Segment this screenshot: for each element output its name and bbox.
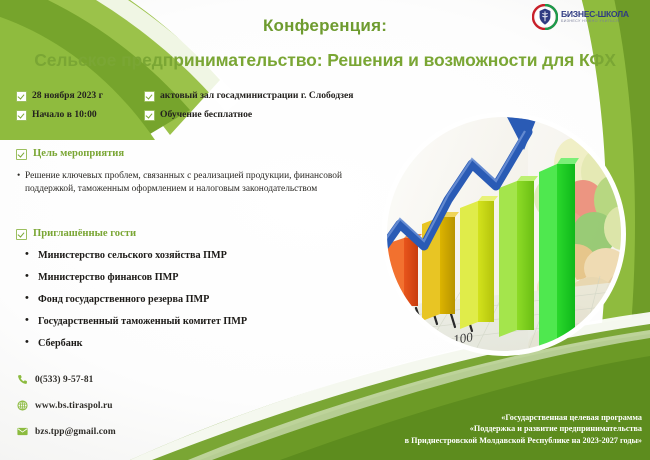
program-note-line: «Поддержка и развитие предпринимательств… <box>405 423 642 435</box>
contact-website-text: www.bs.tiraspol.ru <box>35 401 113 411</box>
chart-bar-4 <box>499 176 538 337</box>
event-detail-date: 28 ноября 2023 г <box>16 90 144 102</box>
envelope-icon <box>16 425 29 438</box>
contacts-block: 0(533) 9-57-81 www.bs.tiraspol.ru bzs.tp… <box>16 373 116 438</box>
event-details-row: 28 ноября 2023 г актовый зал госадминист… <box>16 90 376 102</box>
goal-body: • Решение ключевых проблем, связанных с … <box>16 170 366 195</box>
business-school-logo: БИЗНЕС-ШКОЛА БИЗНЕСУ НУЖНО УЧИТЬСЯ <box>532 2 644 32</box>
check-box-icon <box>16 110 27 121</box>
poster-title: Сельское предпринимательство: Решения и … <box>0 49 650 71</box>
check-box-icon <box>16 149 27 160</box>
program-note-line: «Государственная целевая программа <box>405 412 642 424</box>
chart-bar-2 <box>422 212 459 321</box>
list-item: Фонд государственного резерва ПМР <box>16 293 346 306</box>
event-detail-text: Начало в 10:00 <box>32 109 97 121</box>
goal-section: Цель мероприятия • Решение ключевых проб… <box>16 148 366 195</box>
caduceus-shield-icon <box>532 4 558 30</box>
list-item: Государственный таможенный комитет ПМР <box>16 315 346 328</box>
check-box-icon <box>16 229 27 240</box>
program-note-line: в Приднестровской Молдавской Республике … <box>405 435 642 447</box>
event-detail-price: Обучение бесплатное <box>144 109 252 121</box>
contact-website[interactable]: www.bs.tiraspol.ru <box>16 399 116 412</box>
list-item: Сбербанк <box>16 337 346 350</box>
guests-heading: Приглашённые гости <box>16 228 346 240</box>
goal-item: • Решение ключевых проблем, связанных с … <box>16 170 366 195</box>
logo-name: БИЗНЕС-ШКОЛА <box>561 10 629 19</box>
goal-item-text: Решение ключевых проблем, связанных с ре… <box>25 171 342 194</box>
conference-poster: БИЗНЕС-ШКОЛА БИЗНЕСУ НУЖНО УЧИТЬСЯ Конфе… <box>0 0 650 460</box>
event-detail-venue: актовый зал госадминистрации г. Слободзе… <box>144 90 354 102</box>
check-box-icon <box>16 91 27 102</box>
event-detail-text: Обучение бесплатное <box>160 109 252 121</box>
goal-heading: Цель мероприятия <box>16 148 366 160</box>
chart-bar-5 <box>539 158 579 348</box>
event-detail-text: 28 ноября 2023 г <box>32 90 103 102</box>
guests-heading-label: Приглашённые гости <box>33 228 136 240</box>
guests-list: Министерство сельского хозяйства ПМР Мин… <box>16 249 346 350</box>
goal-heading-label: Цель мероприятия <box>33 148 124 160</box>
check-box-icon <box>144 110 155 121</box>
phone-icon <box>16 373 29 386</box>
event-details-row: Начало в 10:00 Обучение бесплатное <box>16 109 376 121</box>
list-item: Министерство финансов ПМР <box>16 271 346 284</box>
program-note: «Государственная целевая программа «Подд… <box>405 412 642 447</box>
contact-email[interactable]: bzs.tpp@gmail.com <box>16 425 116 438</box>
bullet-icon: • <box>17 170 20 183</box>
event-detail-time: Начало в 10:00 <box>16 109 144 121</box>
logo-tagline: БИЗНЕСУ НУЖНО УЧИТЬСЯ <box>561 20 629 24</box>
event-detail-text: актовый зал госадминистрации г. Слободзе… <box>160 90 354 102</box>
chart-bar-3 <box>460 196 498 329</box>
contact-phone-text: 0(533) 9-57-81 <box>35 375 93 385</box>
growth-chart-artwork: 100 <box>378 112 636 362</box>
list-item: Министерство сельского хозяйства ПМР <box>16 249 346 262</box>
globe-icon <box>16 399 29 412</box>
guests-section: Приглашённые гости Министерство сельског… <box>16 228 346 359</box>
contact-phone[interactable]: 0(533) 9-57-81 <box>16 373 116 386</box>
event-details-grid: 28 ноября 2023 г актовый зал госадминист… <box>16 90 376 128</box>
contact-email-text: bzs.tpp@gmail.com <box>35 427 116 437</box>
check-box-icon <box>144 91 155 102</box>
